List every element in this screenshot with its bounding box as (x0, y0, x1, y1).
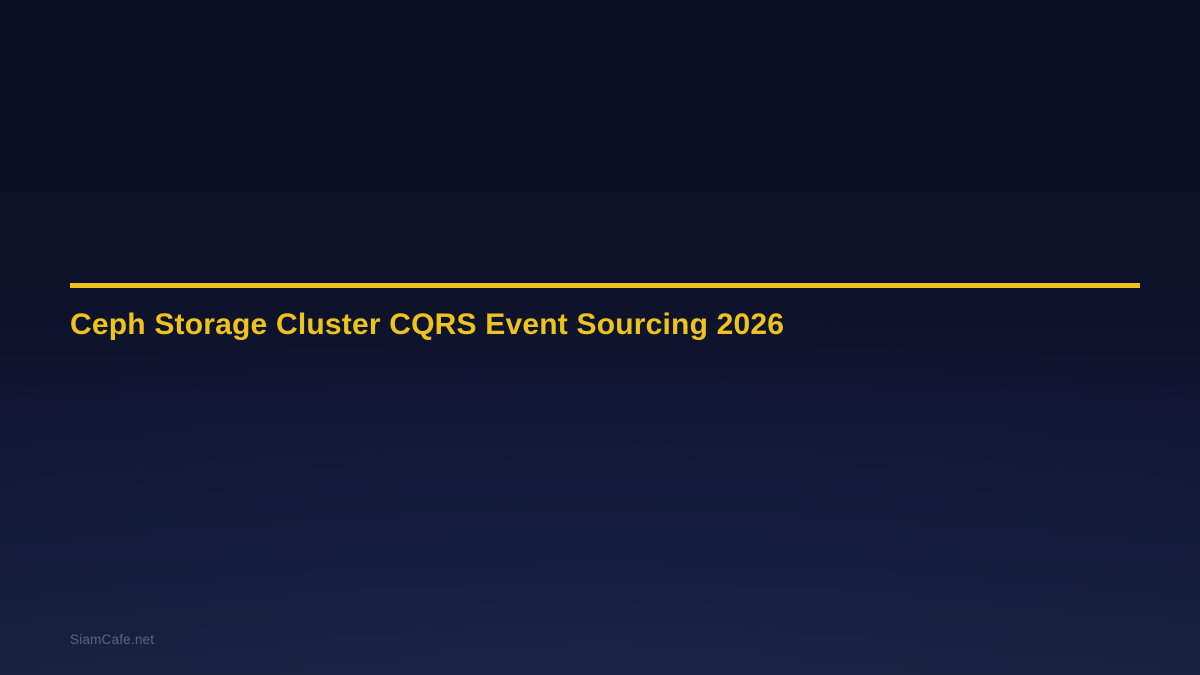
title-slide: Ceph Storage Cluster CQRS Event Sourcing… (0, 0, 1200, 675)
accent-rule (70, 283, 1140, 288)
page-title: Ceph Storage Cluster CQRS Event Sourcing… (70, 305, 784, 345)
footer-watermark: SiamCafe.net (70, 631, 154, 649)
title-block (70, 283, 1140, 288)
